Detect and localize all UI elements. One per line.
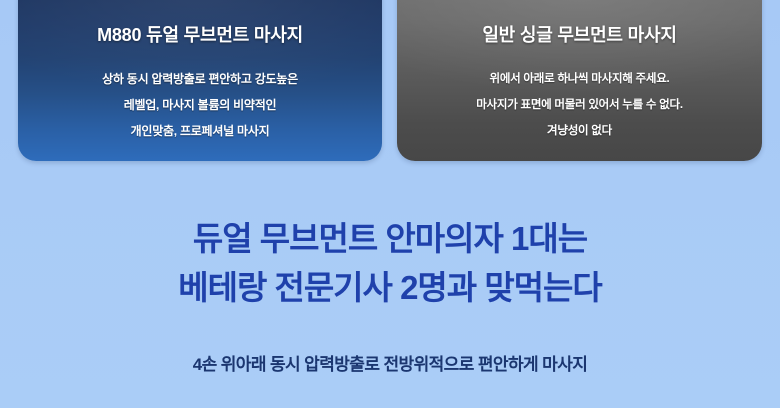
- competitor-card-feature-line: 마사지가 표면에 머물러 있어서 누를 수 없다.: [415, 92, 744, 118]
- product-card-title: M880 듀얼 무브먼트 마사지: [36, 0, 364, 47]
- competitor-card-feature-line: 겨냥성이 없다: [415, 118, 744, 144]
- promo-headline-line-2: 베테랑 전문기사 2명과 맞먹는다: [0, 263, 780, 312]
- competitor-card-title: 일반 싱글 무브먼트 마사지: [415, 0, 744, 47]
- product-card-feature-line: 개인맞춤, 프로페셔널 마사지: [36, 118, 364, 144]
- product-card-feature-list: 상하 동시 압력방출로 편안하고 강도높은 레벨업, 마사지 볼륨의 비약적인 …: [36, 66, 364, 144]
- product-card-feature-line: 레벨업, 마사지 볼륨의 비약적인: [36, 92, 364, 118]
- promo-subheadline: 4손 위아래 동시 압력방출로 전방위적으로 편안하게 마사지: [0, 350, 780, 375]
- comparison-cards: M880 듀얼 무브먼트 마사지 상하 동시 압력방출로 편안하고 강도높은 레…: [0, 0, 780, 168]
- promo-headline-line-1: 듀얼 무브먼트 안마의자 1대는: [0, 214, 780, 263]
- promo-page: M880 듀얼 무브먼트 마사지 상하 동시 압력방출로 편안하고 강도높은 레…: [0, 0, 780, 408]
- promo-headline-block: 듀얼 무브먼트 안마의자 1대는 베테랑 전문기사 2명과 맞먹는다: [0, 214, 780, 312]
- product-card-feature-line: 상하 동시 압력방출로 편안하고 강도높은: [36, 66, 364, 92]
- competitor-card-feature-list: 위에서 아래로 하나씩 마사지해 주세요. 마사지가 표면에 머물러 있어서 누…: [415, 66, 744, 144]
- competitor-card-feature-line: 위에서 아래로 하나씩 마사지해 주세요.: [415, 66, 744, 92]
- product-comparison-card: M880 듀얼 무브먼트 마사지 상하 동시 압력방출로 편안하고 강도높은 레…: [18, 0, 382, 161]
- competitor-comparison-card: 일반 싱글 무브먼트 마사지 위에서 아래로 하나씩 마사지해 주세요. 마사지…: [397, 0, 762, 161]
